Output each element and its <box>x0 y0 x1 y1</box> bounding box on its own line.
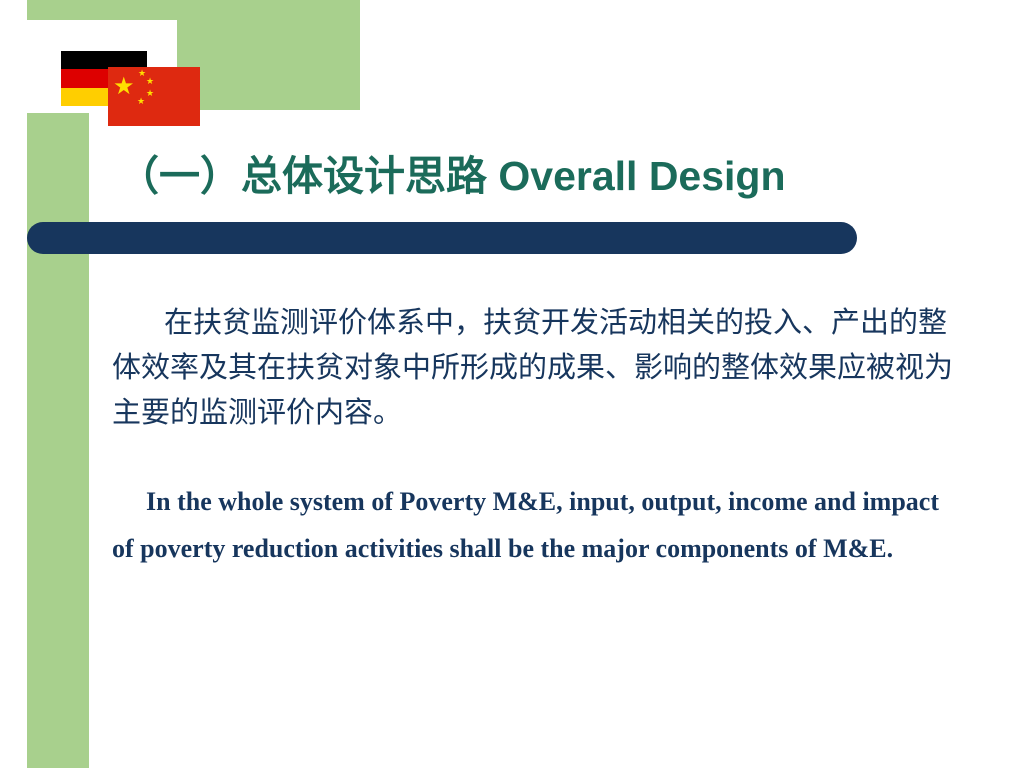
china-flag-small-star-2-icon: ★ <box>146 78 154 87</box>
page-title-english: Overall Design <box>487 153 786 199</box>
china-flag-small-star-1-icon: ★ <box>138 70 146 79</box>
page-title-chinese: （一）总体设计思路 <box>118 152 487 200</box>
china-flag-icon: ★ ★ ★ ★ ★ <box>108 67 200 126</box>
english-paragraph-text: In the whole system of Poverty M&E, inpu… <box>112 487 939 563</box>
page-title: （一）总体设计思路 Overall Design <box>118 142 978 202</box>
china-flag-big-star-icon: ★ <box>113 74 135 98</box>
body-paragraph-chinese: 在扶贫监测评价体系中，扶贫开发活动相关的投入、产出的整体效率及其在扶贫对象中所形… <box>112 300 957 435</box>
china-flag-small-star-4-icon: ★ <box>137 98 145 107</box>
slide: ★ ★ ★ ★ ★ （一）总体设计思路 Overall Design 在扶贫监测… <box>0 0 1024 768</box>
body-paragraph-english: In the whole system of Poverty M&E, inpu… <box>112 478 962 572</box>
chinese-paragraph-text: 在扶贫监测评价体系中，扶贫开发活动相关的投入、产出的整体效率及其在扶贫对象中所形… <box>112 305 953 429</box>
china-flag-small-star-3-icon: ★ <box>146 90 154 99</box>
flag-container: ★ ★ ★ ★ ★ <box>27 20 177 113</box>
left-green-band <box>27 0 89 768</box>
title-underline-bar <box>27 222 857 254</box>
